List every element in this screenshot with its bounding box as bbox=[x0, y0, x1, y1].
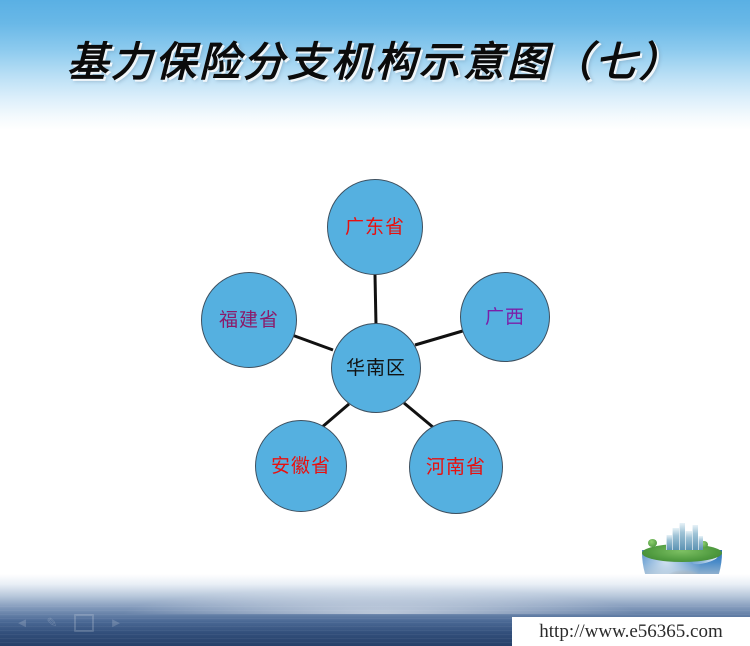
edge-center-guangdong bbox=[375, 275, 376, 325]
edge-center-fujian bbox=[292, 335, 333, 350]
diagram-node-guangdong[interactable]: 广东省 bbox=[327, 179, 423, 275]
diagram-node-henan-label: 河南省 bbox=[426, 458, 486, 477]
tree-icon bbox=[648, 539, 657, 547]
diagram-node-fujian[interactable]: 福建省 bbox=[201, 272, 297, 368]
slide-nav-controls[interactable]: ◄ ✎ ► bbox=[14, 614, 124, 632]
diagram-node-guangxi[interactable]: 广西 bbox=[460, 272, 550, 362]
diagram-node-fujian-label: 福建省 bbox=[219, 311, 279, 330]
watermark-banner: http://www.e56365.com bbox=[512, 617, 750, 646]
presentation-slide: 基力保险分支机构示意图（七） 华南区 广东省 广西 福建省 安徽省 河南省 bbox=[0, 0, 750, 646]
city-skyline-icon bbox=[666, 522, 702, 550]
next-arrow-icon[interactable]: ► bbox=[108, 616, 124, 630]
page-icon[interactable] bbox=[74, 614, 94, 632]
edge-center-henan bbox=[404, 403, 434, 428]
diagram-node-guangxi-label: 广西 bbox=[485, 308, 525, 327]
diagram-node-anhui-label: 安徽省 bbox=[271, 457, 331, 476]
diagram-node-henan[interactable]: 河南省 bbox=[409, 420, 503, 514]
edge-center-anhui bbox=[321, 404, 349, 428]
diagram-node-center-label: 华南区 bbox=[346, 359, 406, 378]
pen-icon[interactable]: ✎ bbox=[44, 616, 60, 630]
diagram-node-anhui[interactable]: 安徽省 bbox=[255, 420, 347, 512]
edge-center-guangxi bbox=[415, 330, 466, 345]
prev-arrow-icon[interactable]: ◄ bbox=[14, 616, 30, 630]
watermark-url: http://www.e56365.com bbox=[539, 621, 722, 643]
diagram-node-center[interactable]: 华南区 bbox=[331, 323, 421, 413]
diagram-node-guangdong-label: 广东省 bbox=[345, 218, 405, 237]
